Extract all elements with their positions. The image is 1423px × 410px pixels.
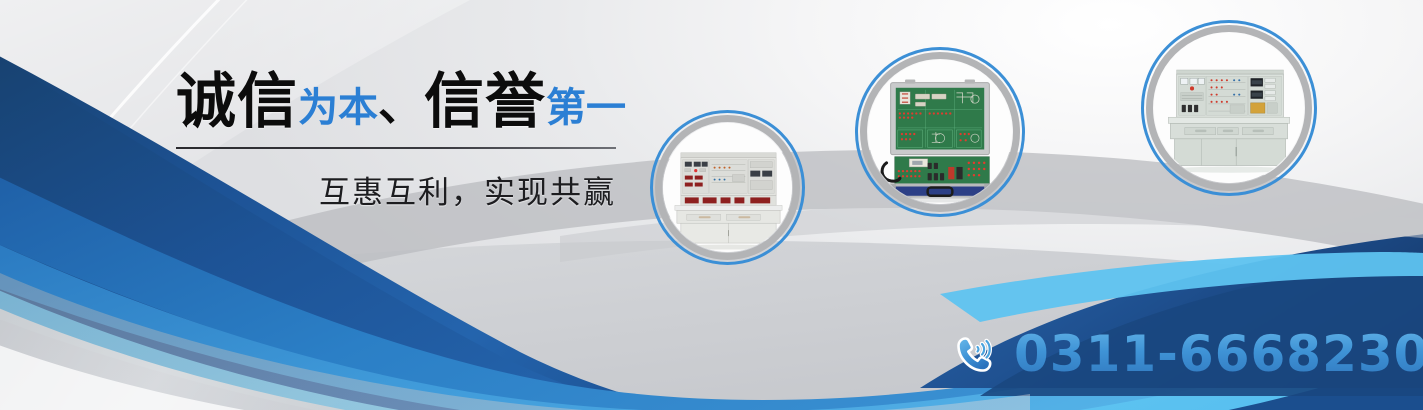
product-circle-workbench[interactable] xyxy=(650,110,805,265)
headline-part2-dark: 信誉 xyxy=(424,72,546,132)
headline-part1-blue: 为本 xyxy=(298,88,378,128)
headline-separator: 、 xyxy=(378,81,424,127)
phone-call-icon xyxy=(952,330,1000,378)
headline-part2-blue: 第一 xyxy=(546,88,626,128)
slogan-block: 诚信 为本 、 信誉 第一 互惠互利，实现共赢 xyxy=(176,72,636,212)
phone-number[interactable]: 0311-66682303 xyxy=(1014,325,1423,383)
headline-part1-dark: 诚信 xyxy=(176,72,298,132)
headline: 诚信 为本 、 信誉 第一 xyxy=(176,72,636,138)
product-circle-training-case[interactable] xyxy=(855,47,1025,217)
product-photo-workbench xyxy=(663,123,792,252)
product-circle-control-console[interactable] xyxy=(1141,20,1317,196)
product-photo-training-case xyxy=(868,60,1012,204)
workbench-illustration xyxy=(663,123,792,252)
product-photo-control-console xyxy=(1154,33,1304,183)
subtitle: 互惠互利，实现共赢 xyxy=(176,167,616,212)
headline-divider xyxy=(176,147,616,149)
contact-phone-block[interactable]: 0311-66682303 xyxy=(952,325,1423,383)
control-console-illustration xyxy=(1154,33,1304,183)
promotional-banner: 诚信 为本 、 信誉 第一 互惠互利，实现共赢 xyxy=(0,0,1423,410)
training-case-illustration xyxy=(868,60,1012,204)
